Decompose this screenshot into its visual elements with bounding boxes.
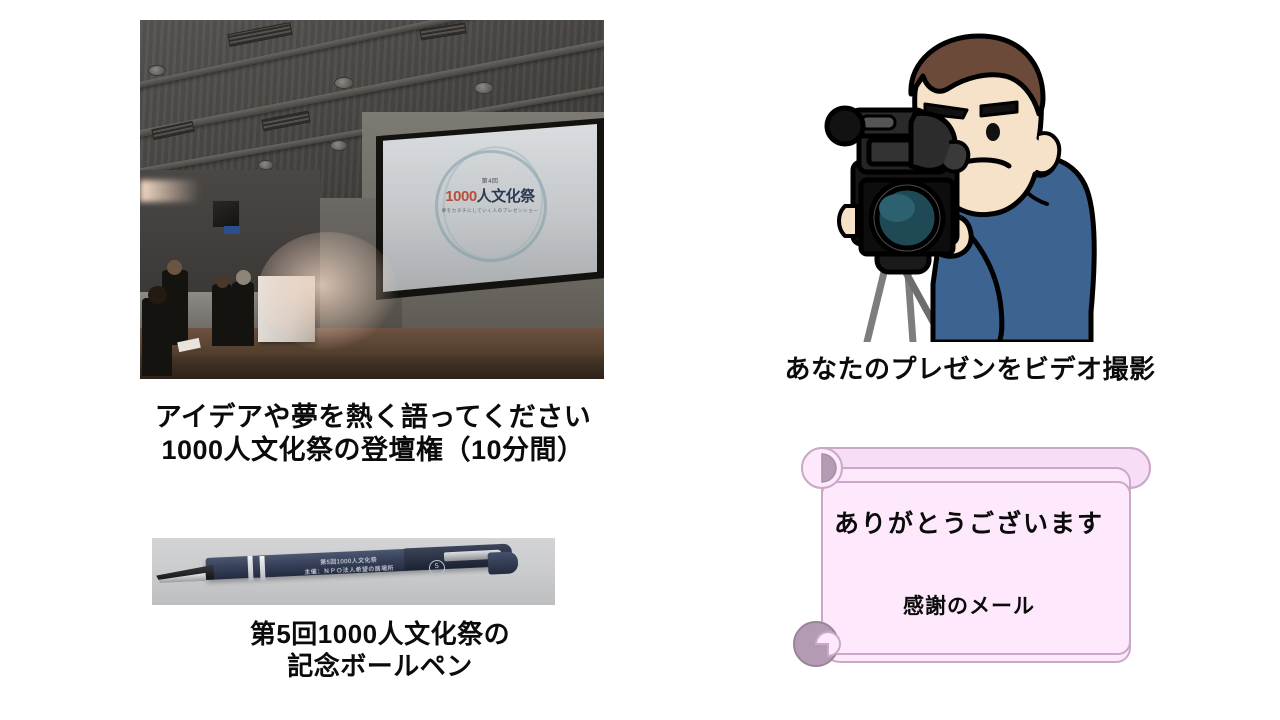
cameraman-illustration — [815, 22, 1130, 342]
note-line-2: 感謝のメール — [786, 590, 1152, 620]
wall-speaker — [212, 200, 240, 228]
projected-edition-label: 第4回 — [383, 176, 597, 185]
audience-person-head — [216, 275, 229, 288]
strip-light — [140, 180, 200, 202]
projected-slide-text: 第4回 1000人文化祭 夢をカタチにしていく人のプレゼンショー — [383, 176, 597, 214]
pen-logo-mark: 5 — [429, 560, 446, 577]
projection-screen: 第4回 1000人文化祭 夢をカタチにしていく人のプレゼンショー — [383, 124, 597, 292]
audience-person-head — [148, 286, 167, 304]
commemorative-pen-photo: 5 第5回1000人文化祭 主催：ＮＰＯ法人希望の居場所 — [152, 538, 555, 605]
pen-decor-ring — [247, 556, 253, 581]
cameraman-svg — [815, 22, 1130, 342]
scroll-note-svg — [786, 442, 1152, 670]
ceiling-downlight — [148, 65, 166, 76]
pen-end-cap — [488, 551, 519, 574]
light-glow — [258, 232, 398, 350]
projected-slide: 第4回 1000人文化祭 夢をカタチにしていく人のプレゼンショー — [383, 124, 597, 292]
ceiling-downlight — [334, 77, 354, 89]
projected-title-number: 1000 — [445, 188, 476, 205]
projected-subtitle: 夢をカタチにしていく人のプレゼンショー — [383, 208, 597, 214]
thank-you-scroll-note: ありがとうございます 感謝のメール — [786, 442, 1152, 670]
slide-canvas: 第4回 1000人文化祭 夢をカタチにしていく人のプレゼンショー アイデアや夢を… — [0, 0, 1280, 720]
ceiling-downlight — [330, 140, 348, 151]
caption-pen: 第5回1000人文化祭の 記念ボールペン — [160, 618, 600, 682]
stage-front — [140, 356, 604, 379]
note-line-1: ありがとうございます — [786, 504, 1152, 540]
audience-person-head — [236, 270, 251, 285]
caption-video: あなたのプレゼンをビデオ撮影 — [740, 353, 1200, 385]
audience-person-head — [167, 260, 182, 275]
projected-title: 1000人文化祭 — [383, 185, 597, 206]
audience-person — [232, 282, 254, 346]
audience-person — [212, 284, 232, 346]
audience-person — [142, 298, 172, 376]
pen-decor-ring — [259, 556, 265, 581]
conference-hall-photo: 第4回 1000人文化祭 夢をカタチにしていく人のプレゼンショー — [140, 20, 604, 379]
caption-stage-right: アイデアや夢を熱く語ってください 1000人文化祭の登壇権（10分間） — [100, 401, 646, 468]
ceiling-downlight — [258, 160, 274, 170]
exit-sign — [224, 226, 240, 234]
ceiling-downlight — [474, 82, 494, 94]
projected-title-text: 人文化祭 — [477, 188, 535, 205]
